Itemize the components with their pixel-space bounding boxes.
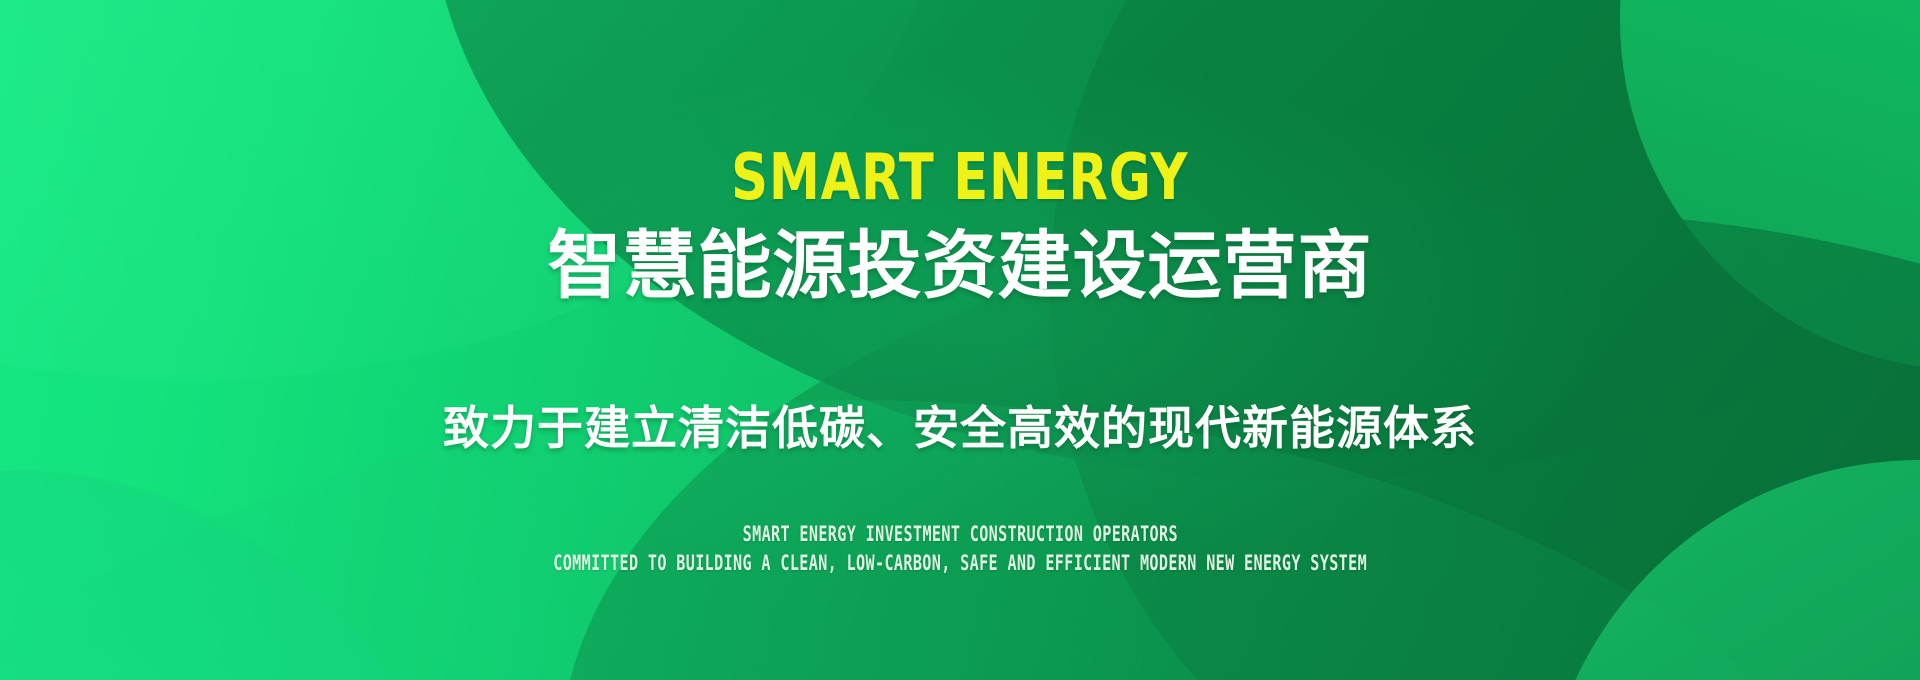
banner-tagline-line-1: SMART ENERGY INVESTMENT CONSTRUCTION OPE… bbox=[742, 521, 1177, 547]
banner-eyebrow-title: SMART ENERGY bbox=[731, 146, 1188, 210]
banner-headline: 智慧能源投资建设运营商 bbox=[548, 228, 1373, 305]
banner-content: SMART ENERGY 智慧能源投资建设运营商 致力于建立清洁低碳、安全高效的… bbox=[0, 0, 1920, 680]
banner-subheadline: 致力于建立清洁低碳、安全高效的现代新能源体系 bbox=[443, 403, 1477, 454]
banner-tagline-line-2: COMMITTED TO BUILDING A CLEAN, LOW-CARBO… bbox=[553, 550, 1367, 576]
hero-banner: SMART ENERGY 智慧能源投资建设运营商 致力于建立清洁低碳、安全高效的… bbox=[0, 0, 1920, 680]
